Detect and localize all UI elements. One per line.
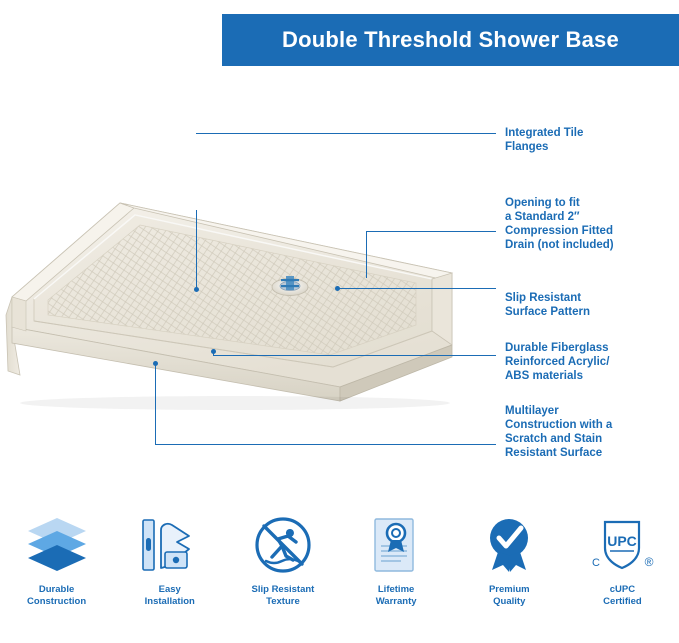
feature-durable-construction: Durable Construction xyxy=(0,512,113,607)
feature-label: Premium Quality xyxy=(489,584,530,607)
callout-drain-opening: Opening to fit a Standard 2″ Compression… xyxy=(505,196,670,252)
leader-line-flanges-horizontal xyxy=(196,133,496,134)
upc-left-mark: C xyxy=(592,557,600,569)
callout-durable-materials: Durable Fiberglass Reinforced Acrylic/ A… xyxy=(505,341,670,383)
no-slip-icon xyxy=(247,512,319,578)
upc-right-mark: ® xyxy=(645,555,654,569)
certificate-icon xyxy=(360,512,432,578)
feature-row: Durable Construction Easy Installation xyxy=(0,512,679,643)
header-bar: Double Threshold Shower Base xyxy=(222,14,679,66)
feature-label: cUPC Certified xyxy=(603,584,642,607)
level-tool-icon xyxy=(134,512,206,578)
product-infographic: Double Threshold Shower Base xyxy=(0,0,679,643)
leader-line-slip-horizontal xyxy=(338,288,496,289)
callout-integrated-tile-flanges: Integrated Tile Flanges xyxy=(505,126,665,154)
leader-line-flanges-vertical xyxy=(196,210,197,289)
upc-shield-icon: UPC C ® xyxy=(586,512,658,578)
leader-line-multilayer-vertical xyxy=(155,363,156,445)
check-ribbon-icon xyxy=(473,512,545,578)
leader-dot-materials xyxy=(211,349,216,354)
feature-label: Durable Construction xyxy=(27,584,86,607)
leader-line-multilayer-horizontal xyxy=(155,444,496,445)
page-title: Double Threshold Shower Base xyxy=(282,27,619,53)
upc-badge-text: UPC xyxy=(608,533,638,549)
leader-line-drain-horizontal xyxy=(366,231,496,232)
layers-icon xyxy=(21,512,93,578)
leader-line-drain-vertical xyxy=(366,232,367,278)
feature-cupc-certified: UPC C ® cUPC Certified xyxy=(566,512,679,607)
shower-base-illustration xyxy=(0,175,500,415)
feature-lifetime-warranty: Lifetime Warranty xyxy=(340,512,453,607)
leader-dot-multilayer xyxy=(153,361,158,366)
feature-easy-installation: Easy Installation xyxy=(113,512,226,607)
callout-slip-resistant-surface: Slip Resistant Surface Pattern xyxy=(505,291,665,319)
leader-dot-flanges xyxy=(194,287,199,292)
callout-multilayer-construction: Multilayer Construction with a Scratch a… xyxy=(505,404,670,460)
feature-label: Easy Installation xyxy=(145,584,195,607)
leader-line-materials-horizontal xyxy=(213,355,496,356)
feature-label: Slip Resistant Texture xyxy=(252,584,315,607)
feature-premium-quality: Premium Quality xyxy=(453,512,566,607)
leader-dot-slip xyxy=(335,286,340,291)
feature-slip-resistant-texture: Slip Resistant Texture xyxy=(226,512,339,607)
feature-label: Lifetime Warranty xyxy=(376,584,417,607)
